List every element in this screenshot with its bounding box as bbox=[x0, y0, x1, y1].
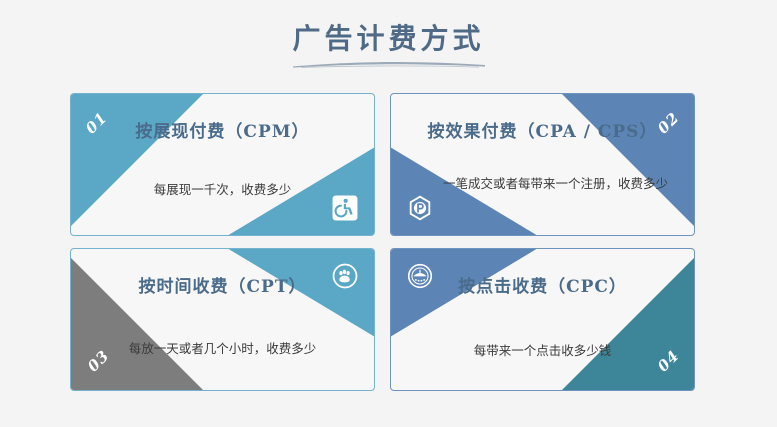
page-title: 广告计费方式 bbox=[0, 22, 777, 56]
card-title: 按展现付费（CPM） bbox=[71, 121, 374, 143]
card-cpc[interactable]: 04 按点击收费（CPC） 每带来一个点击收多少钱 bbox=[390, 248, 695, 391]
billing-method-card-grid: 01 按展现付费（CPM） 每展现一千次，收费多少 02 按效果付费（CPA /… bbox=[70, 93, 695, 391]
card-number-badge bbox=[71, 94, 203, 226]
card-cpt[interactable]: 03 按时间收费（CPT） 每放一天或者几个小时，收费多少 bbox=[70, 248, 375, 391]
card-subtitle: 每展现一千次，收费多少 bbox=[105, 180, 340, 199]
card-cpm[interactable]: 01 按展现付费（CPM） 每展现一千次，收费多少 bbox=[70, 93, 375, 236]
card-title: 按时间收费（CPT） bbox=[71, 276, 374, 298]
card-subtitle: 一笔成交或者每带来一个注册，收费多少 bbox=[439, 174, 672, 193]
page-header: 广告计费方式 bbox=[0, 22, 777, 69]
card-subtitle: 每带来一个点击收多少钱 bbox=[425, 341, 660, 360]
parking-hexagon-icon bbox=[407, 195, 433, 221]
card-subtitle: 每放一天或者几个小时，收费多少 bbox=[105, 339, 340, 358]
card-title: 按点击收费（CPC） bbox=[391, 276, 694, 298]
card-title: 按效果付费（CPA / CPS） bbox=[391, 121, 694, 143]
card-cpa-cps[interactable]: 02 按效果付费（CPA / CPS） 一笔成交或者每带来一个注册，收费多少 bbox=[390, 93, 695, 236]
title-brush-underline bbox=[291, 60, 487, 69]
